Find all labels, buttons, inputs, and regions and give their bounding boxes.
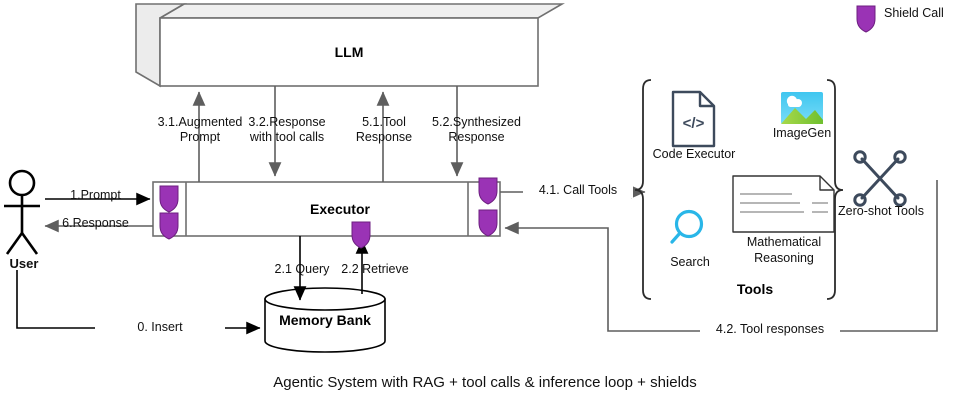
- shield-icon-tools-out: [479, 178, 497, 204]
- tools-group-label: Tools: [700, 281, 810, 297]
- shield-icon-exec-in: [160, 186, 178, 212]
- shield-icon-memory: [352, 222, 370, 248]
- diagram-canvas: </>: [0, 0, 970, 411]
- svg-text:</>: </>: [683, 115, 705, 132]
- memory-bank-label: Memory Bank: [265, 312, 385, 328]
- edge-label-5-2: 5.2.Synthesized Response: [424, 115, 529, 145]
- edge-label-2-2: 2.2 Retrieve: [330, 262, 420, 277]
- crossed-wrenches-icon: [855, 152, 905, 205]
- user-label: User: [0, 256, 48, 271]
- tool-label-code-executor: Code Executor: [648, 147, 740, 162]
- edge-label-3-2: 3.2.Response with tool calls: [232, 115, 342, 145]
- shield-icon-tools-in: [479, 210, 497, 236]
- edge-label-6-response: 6.Response: [43, 216, 148, 231]
- tools-brace-left: [635, 80, 651, 299]
- edge-label-0-insert: 0. Insert: [95, 320, 225, 335]
- image-picture-icon: [781, 92, 823, 124]
- llm-label: LLM: [160, 44, 538, 60]
- edge-label-1-prompt: 1.Prompt: [43, 188, 148, 203]
- edge-label-4-1: 4.1. Call Tools: [523, 183, 633, 198]
- edge-label-4-2: 4.2. Tool responses: [700, 322, 840, 337]
- magnifier-icon: [672, 212, 702, 243]
- executor-label: Executor: [250, 201, 430, 217]
- tool-label-imagegen: ImageGen: [762, 126, 842, 141]
- tool-label-search: Search: [655, 255, 725, 270]
- edge-label-5-1: 5.1.Tool Response: [340, 115, 428, 145]
- code-document-icon: </>: [673, 92, 714, 146]
- shield-icon-legend: [857, 6, 875, 32]
- diagram-caption: Agentic System with RAG + tool calls & i…: [0, 375, 970, 390]
- legend-shield-label: Shield Call: [884, 6, 970, 21]
- tool-label-math-reasoning: Mathematical Reasoning: [733, 234, 835, 266]
- shield-icon-exec-out: [160, 213, 178, 239]
- tool-label-zero-shot-tools: Zero-shot Tools: [838, 203, 924, 219]
- user-actor: [4, 171, 40, 254]
- math-document-icon: [733, 176, 834, 232]
